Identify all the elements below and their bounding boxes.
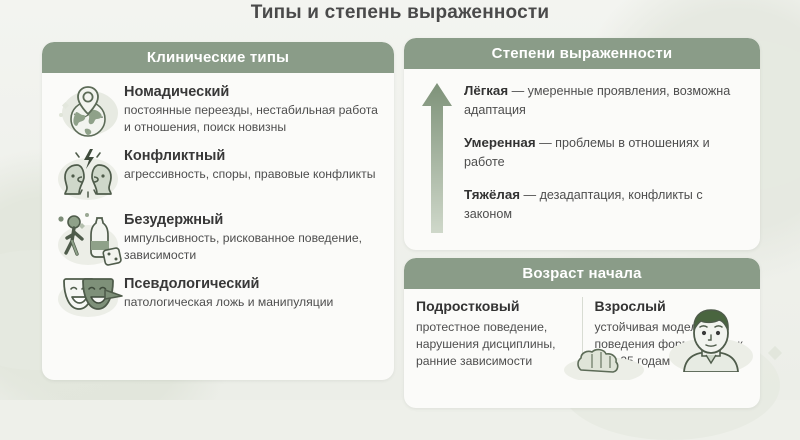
list-item-text: Номадический постоянные переезды, нестаб… (124, 79, 384, 135)
list-item-desc: патологическая ложь и манипуляции (124, 294, 333, 311)
card-age-title: Возраст начала (522, 265, 641, 282)
card-severity-levels: Степени выраженности Лёгкая — (404, 38, 760, 250)
list-item[interactable]: Безудержный импульсивность, рискованное … (52, 207, 384, 269)
running-man-bottle-dice-icon (52, 207, 124, 269)
page-title: Типы и степень выраженности (0, 2, 800, 24)
list-item[interactable]: Конфликтный агрессивность, споры, правов… (52, 143, 384, 205)
theater-masks-icon (52, 271, 124, 333)
severity-name: Умеренная (464, 135, 536, 150)
severity-dash: — (512, 84, 525, 98)
list-item-desc: постоянные переезды, нестабильная работа… (124, 102, 384, 135)
card-clinical-types: Клинические типы (42, 42, 394, 380)
list-item-title: Безудержный (124, 211, 384, 229)
card-clinical-header: Клинические типы (42, 42, 394, 73)
infographic-page: Типы и степень выраженности Клинические … (0, 0, 800, 400)
severity-dash: — (523, 188, 536, 202)
list-item[interactable]: Умеренная — проблемы в отношениях и рабо… (464, 133, 746, 172)
card-age-of-onset: Возраст начала Подростковый протестное п… (404, 258, 760, 408)
card-clinical-title: Клинические типы (147, 49, 289, 66)
age-column-desc: устойчивая модель поведения формируется … (595, 319, 749, 370)
age-column-title: Подростковый (416, 297, 570, 316)
severity-list: Лёгкая — умеренные проявления, возможна … (464, 79, 746, 242)
list-item[interactable]: Номадический постоянные переезды, нестаб… (52, 79, 384, 141)
card-severity-header: Степени выраженности (404, 38, 760, 69)
list-item[interactable]: Псевдологический патологическая ложь и м… (52, 271, 384, 333)
age-column-teen[interactable]: Подростковый протестное поведение, наруш… (404, 297, 582, 370)
up-arrow-icon (418, 79, 458, 237)
list-item[interactable]: Тяжёлая — дезадаптация, конфликты с зако… (464, 185, 746, 224)
list-item-desc: агрессивность, споры, правовые конфликты (124, 166, 375, 183)
arguing-heads-icon (52, 143, 124, 205)
list-item-title: Конфликтный (124, 147, 375, 165)
bg-diamond-1 (768, 346, 782, 360)
card-severity-body: Лёгкая — умеренные проявления, возможна … (404, 69, 760, 242)
list-item-text: Безудержный импульсивность, рискованное … (124, 207, 384, 263)
list-item-title: Номадический (124, 83, 384, 101)
list-item-text: Псевдологический патологическая ложь и м… (124, 271, 333, 311)
age-column-adult[interactable]: Взрослый устойчивая модель поведения фор… (582, 297, 761, 370)
list-item[interactable]: Лёгкая — умеренные проявления, возможна … (464, 81, 746, 120)
card-age-body: Подростковый протестное поведение, наруш… (404, 289, 760, 370)
arrow-column (418, 79, 464, 242)
list-item-desc: импульсивность, рискованное поведение, з… (124, 230, 384, 263)
age-column-desc: протестное поведение, нарушения дисципли… (416, 319, 570, 370)
list-item-text: Конфликтный агрессивность, споры, правов… (124, 143, 375, 183)
severity-dash: — (539, 136, 552, 150)
card-severity-title: Степени выраженности (492, 45, 673, 62)
globe-pin-icon (52, 79, 124, 141)
card-age-header: Возраст начала (404, 258, 760, 289)
severity-name: Лёгкая (464, 83, 508, 98)
severity-name: Тяжёлая (464, 187, 520, 202)
age-column-title: Взрослый (595, 297, 749, 316)
card-clinical-body: Номадический постоянные переезды, нестаб… (42, 73, 394, 333)
list-item-title: Псевдологический (124, 275, 333, 293)
